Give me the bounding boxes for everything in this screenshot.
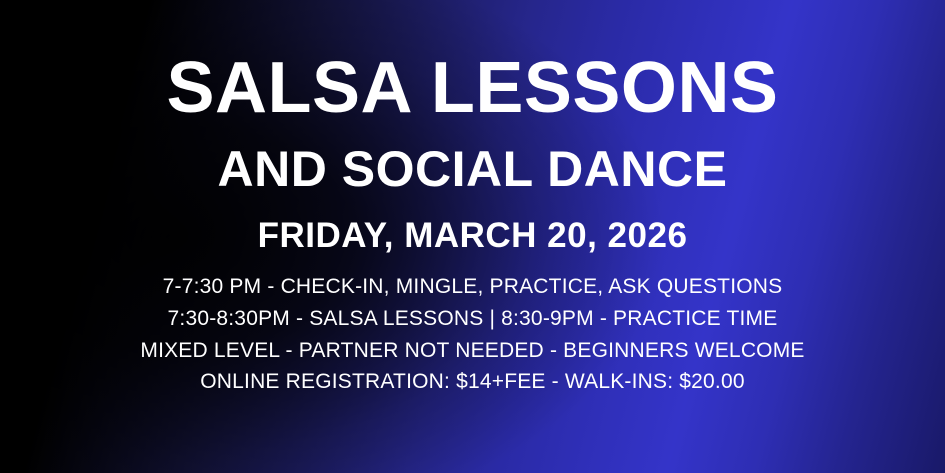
event-title-main: SALSA LESSONS <box>167 52 779 124</box>
event-details: 7-7:30 PM - CHECK-IN, MINGLE, PRACTICE, … <box>140 275 804 395</box>
event-banner: SALSA LESSONS AND SOCIAL DANCE FRIDAY, M… <box>0 0 945 473</box>
event-title-sub: AND SOCIAL DANCE <box>218 144 728 194</box>
detail-line-pricing: ONLINE REGISTRATION: $14+FEE - WALK-INS:… <box>200 370 744 395</box>
event-date: FRIDAY, MARCH 20, 2026 <box>258 218 688 253</box>
banner-content: SALSA LESSONS AND SOCIAL DANCE FRIDAY, M… <box>0 0 945 473</box>
detail-line-level-info: MIXED LEVEL - PARTNER NOT NEEDED - BEGIN… <box>140 339 804 364</box>
detail-line-schedule-checkin: 7-7:30 PM - CHECK-IN, MINGLE, PRACTICE, … <box>163 275 783 300</box>
detail-line-schedule-lessons: 7:30-8:30PM - SALSA LESSONS | 8:30-9PM -… <box>168 307 778 332</box>
